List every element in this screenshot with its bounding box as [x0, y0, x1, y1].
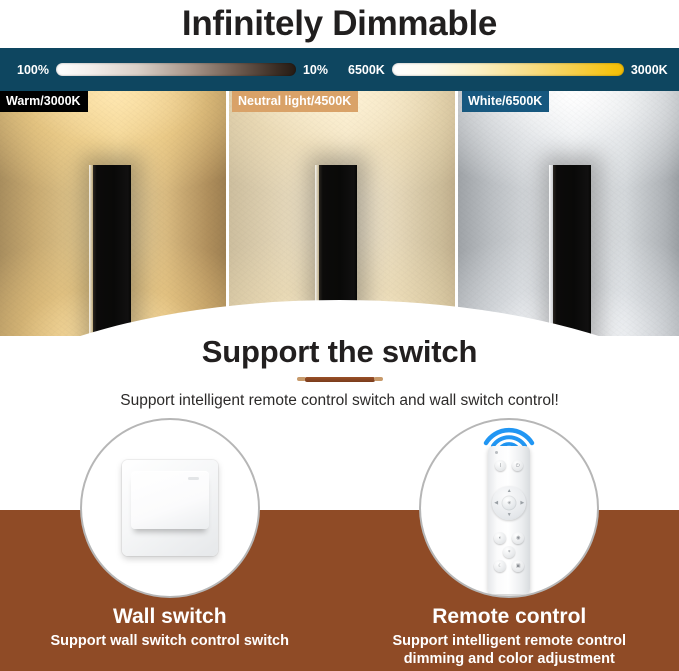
remote-button-color[interactable]: ◉ — [512, 532, 524, 544]
brightness-slider-group: 100% 10% — [0, 48, 339, 91]
feature-title: Remote control — [340, 604, 679, 629]
brightness-gradient-track[interactable] — [56, 63, 296, 76]
switch-indicator-dot — [188, 477, 199, 480]
page-title: Infinitely Dimmable — [0, 0, 679, 48]
dpad-left-icon[interactable]: ◀ — [494, 500, 498, 506]
brightness-left-label: 100% — [17, 63, 49, 77]
feature-title: Wall switch — [0, 604, 340, 629]
feature-remote-control: I ⏻ ▲ ▼ ◀ ▶ ✳ ◐ ◉ ᵠ ☾ ▣ — [340, 418, 679, 671]
remote-button-bulb[interactable]: ᵠ — [503, 546, 515, 558]
remote-led-icon — [495, 451, 498, 454]
remote-button-scene[interactable]: ▣ — [512, 560, 524, 572]
remote-button-mode[interactable]: ◐ — [494, 532, 506, 544]
remote-button-night[interactable]: ☾ — [494, 560, 506, 572]
remote-button-power[interactable]: ⏻ — [512, 460, 523, 471]
scene-tag-warm: Warm/3000K — [0, 91, 88, 112]
dpad-up-icon[interactable]: ▲ — [507, 488, 512, 494]
scene-photo-warm: Warm/3000K — [0, 91, 226, 336]
scene-tag-white: White/6500K — [462, 91, 549, 112]
ornament-divider — [297, 376, 383, 383]
switch-rocker[interactable] — [131, 471, 209, 529]
scene-photo-white: White/6500K — [458, 91, 679, 336]
remote-control-circle: I ⏻ ▲ ▼ ◀ ▶ ✳ ◐ ◉ ᵠ ☾ ▣ — [419, 418, 599, 598]
dimming-slider-strip: 100% 10% 6500K 3000K — [0, 48, 679, 91]
remote-control-icon[interactable]: I ⏻ ▲ ▼ ◀ ▶ ✳ ◐ ◉ ᵠ ☾ ▣ — [488, 446, 530, 594]
divider-bar — [305, 377, 375, 382]
switch-section-header: Support the switch Support intelligent r… — [0, 326, 679, 410]
cct-right-label: 3000K — [631, 63, 668, 77]
dpad-down-icon[interactable]: ▼ — [507, 512, 512, 518]
section-title: Support the switch — [0, 334, 679, 370]
wall-lamp-fixture — [93, 165, 131, 337]
wall-lamp-fixture — [553, 165, 591, 337]
scene-tag-neutral: Neutral light/4500K — [232, 91, 358, 112]
dpad-center-icon[interactable]: ✳ — [502, 496, 517, 511]
remote-dpad[interactable]: ▲ ▼ ◀ ▶ ✳ — [492, 486, 526, 520]
wifi-signal-icon — [481, 422, 537, 448]
cct-gradient-track[interactable] — [392, 63, 624, 76]
divider-cap-right — [374, 377, 383, 381]
brightness-right-label: 10% — [303, 63, 328, 77]
section-subtitle: Support intelligent remote control switc… — [0, 392, 679, 410]
dpad-right-icon[interactable]: ▶ — [520, 500, 524, 506]
wall-switch-caption: Wall switch Support wall switch control … — [0, 604, 340, 650]
product-infographic: Infinitely Dimmable 100% 10% 6500K 3000K… — [0, 0, 679, 671]
wall-switch-circle — [80, 418, 260, 598]
remote-control-caption: Remote control Support intelligent remot… — [340, 604, 679, 668]
feature-description: Support wall switch control switch — [0, 632, 340, 650]
feature-description: Support intelligent remote control dimmi… — [340, 632, 679, 668]
feature-wall-switch: Wall switch Support wall switch control … — [0, 418, 340, 671]
wall-switch-icon[interactable] — [122, 460, 218, 556]
color-temperature-slider-group: 6500K 3000K — [339, 48, 679, 91]
remote-button-brightness[interactable]: I — [495, 460, 506, 471]
cct-left-label: 6500K — [348, 63, 385, 77]
feature-list: Wall switch Support wall switch control … — [0, 418, 679, 671]
